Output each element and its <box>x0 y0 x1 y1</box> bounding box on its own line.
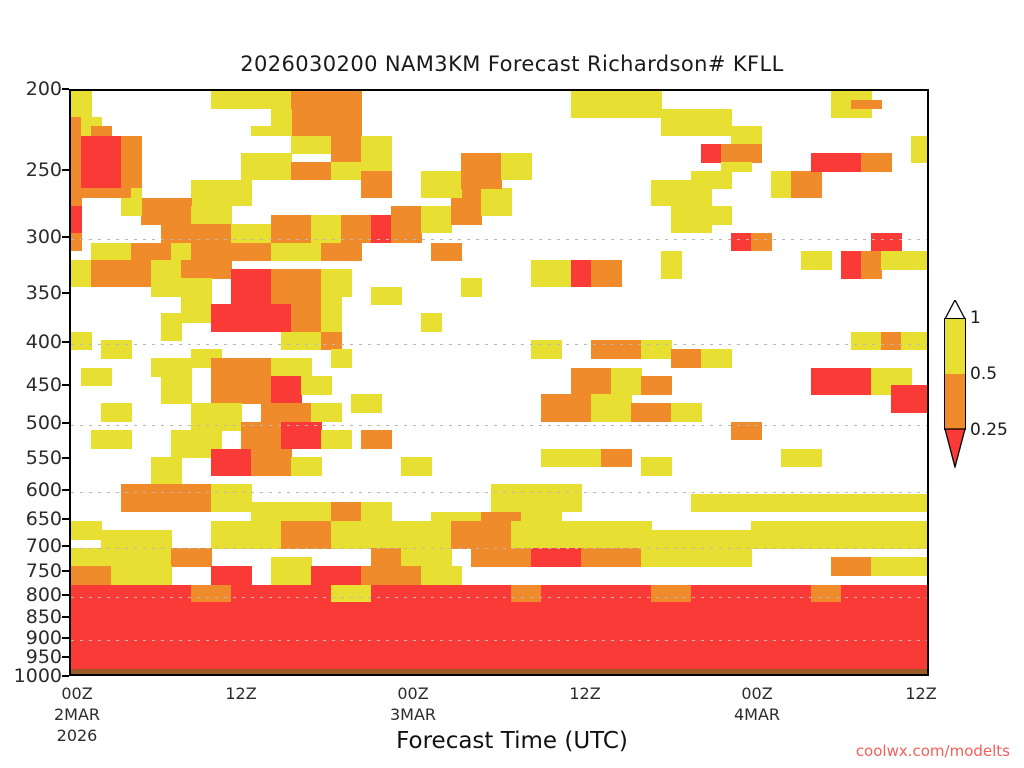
y-tick-label: 250 <box>6 159 62 181</box>
heatmap-cell <box>191 180 252 207</box>
heatmap-cell <box>541 394 592 422</box>
heatmap-cell <box>71 585 192 604</box>
heatmap-cell <box>861 494 929 513</box>
heatmap-cell <box>371 215 392 243</box>
heatmap-cell <box>291 457 322 476</box>
heatmap-cell <box>241 422 282 450</box>
heatmap-cell <box>91 260 152 287</box>
heatmap-cell <box>501 153 532 180</box>
heatmap-cell <box>861 251 882 279</box>
heatmap-cell <box>181 278 212 323</box>
heatmap-cell <box>771 171 792 198</box>
heatmap-cell <box>211 566 252 585</box>
y-tick-label: 500 <box>6 412 62 434</box>
heatmap-cell <box>231 585 332 604</box>
heatmap-cell <box>341 215 372 243</box>
colorbar-segment-high <box>945 319 965 374</box>
heatmap-cell <box>701 349 732 368</box>
heatmap-cell <box>571 91 662 118</box>
heatmap-cell <box>511 585 542 604</box>
heatmap-cell <box>281 422 322 450</box>
heatmap-cell <box>671 349 702 368</box>
heatmap-cell <box>211 376 272 404</box>
heatmap-cell <box>591 394 632 422</box>
x-tick-label: 12Z <box>569 684 600 703</box>
heatmap-cell <box>171 243 192 261</box>
heatmap-cell <box>701 144 722 163</box>
heatmap-cell <box>811 585 842 604</box>
colorbar-label: 1 <box>970 308 981 328</box>
heatmap-cell <box>601 449 632 468</box>
heatmap-cell <box>111 566 172 585</box>
heatmap-cell <box>401 457 432 476</box>
heatmap-cell <box>781 494 862 513</box>
heatmap-cell <box>901 332 929 350</box>
heatmap-cell <box>321 332 342 350</box>
heatmap-cell <box>191 403 242 430</box>
colorbar-below-arrow <box>944 428 966 468</box>
y-tick-mark <box>62 656 69 658</box>
heatmap-cell <box>641 457 672 476</box>
heatmap-cell <box>831 557 872 576</box>
heatmap-cell <box>371 287 402 305</box>
heatmap-cell <box>541 585 652 604</box>
heatmap-cell <box>71 233 82 252</box>
heatmap-cell <box>641 376 672 395</box>
heatmap-cell <box>211 484 252 512</box>
y-tick-mark <box>62 675 69 677</box>
heatmap-cell <box>161 376 192 404</box>
heatmap-cell <box>491 484 582 512</box>
heatmap-cell <box>781 449 822 468</box>
heatmap-cell <box>591 340 642 359</box>
heatmap-cell <box>671 206 712 234</box>
heatmap-cell <box>671 403 702 422</box>
y-tick-label: 800 <box>6 584 62 606</box>
heatmap-cells <box>71 91 927 674</box>
heatmap-cell <box>71 91 92 118</box>
colorbar-label: 0.5 <box>970 364 997 384</box>
heatmap-cell <box>461 153 502 189</box>
heatmap-cell <box>251 126 292 136</box>
x-tick-label: 00Z3MAR <box>390 684 436 724</box>
heatmap-cell <box>691 171 732 189</box>
y-tick-mark <box>62 341 69 343</box>
heatmap-cell <box>181 260 232 279</box>
y-tick-label: 450 <box>6 374 62 396</box>
heatmap-cell <box>351 394 382 413</box>
y-tick-mark <box>62 169 69 171</box>
heatmap-cell <box>631 403 672 422</box>
heatmap-cell <box>71 566 112 585</box>
heatmap-cell <box>571 260 592 287</box>
heatmap-cell <box>591 260 622 287</box>
heatmap-cell <box>331 162 362 180</box>
heatmap-cell <box>91 126 112 136</box>
y-tick-label: 600 <box>6 479 62 501</box>
heatmap-cell <box>811 153 862 172</box>
heatmap-cell <box>711 206 732 225</box>
heatmap-cell <box>71 136 82 189</box>
x-tick-label: 12Z <box>905 684 936 703</box>
heatmap-cell <box>851 100 882 109</box>
heatmap-cell <box>71 260 92 287</box>
chart-title: 2026030200 NAM3KM Forecast Richardson# K… <box>0 52 1024 76</box>
heatmap-cell <box>461 278 482 297</box>
heatmap-cell <box>271 557 312 585</box>
heatmap-cell <box>121 484 212 512</box>
heatmap-cell <box>101 340 132 359</box>
heatmap-cell <box>571 368 612 395</box>
heatmap-cell <box>401 548 452 567</box>
heatmap-cell <box>211 521 282 549</box>
heatmap-cell <box>641 340 672 359</box>
heatmap-cell <box>71 602 929 676</box>
heatmap-cell <box>271 215 312 243</box>
y-tick-mark <box>62 236 69 238</box>
heatmap-cell <box>691 585 812 604</box>
x-tick-label: 12Z <box>225 684 256 703</box>
heatmap-cell <box>331 349 352 368</box>
heatmap-cell <box>271 269 322 305</box>
y-tick-mark <box>62 384 69 386</box>
colorbar-above-arrow <box>944 300 966 320</box>
chart-page: 2026030200 NAM3KM Forecast Richardson# K… <box>0 0 1024 768</box>
heatmap-cell <box>121 539 172 567</box>
heatmap-cell <box>331 521 452 549</box>
heatmap-cell <box>161 313 182 340</box>
heatmap-cell <box>291 136 332 154</box>
heatmap-cell <box>211 304 292 332</box>
heatmap-cell <box>91 430 132 449</box>
heatmap-cell <box>131 243 172 261</box>
heatmap-cell <box>421 206 452 234</box>
heatmap-cell <box>721 162 752 172</box>
colorbar-arrow-up-icon <box>944 300 966 320</box>
y-tick-label: 200 <box>6 78 62 100</box>
y-tick-mark <box>62 457 69 459</box>
heatmap-cell <box>691 494 782 513</box>
heatmap-cell <box>71 117 82 136</box>
y-tick-mark <box>62 545 69 547</box>
heatmap-cell <box>791 171 822 198</box>
heatmap-cell <box>651 585 692 604</box>
heatmap-cell <box>71 548 122 567</box>
heatmap-cell <box>291 162 332 180</box>
heatmap-cell <box>421 566 462 585</box>
heatmap-cell <box>841 251 862 279</box>
heatmap-cell <box>811 368 872 395</box>
heatmap-cell <box>361 566 422 585</box>
heatmap-cell <box>331 585 372 604</box>
heatmap-cell <box>281 521 332 549</box>
y-tick-mark <box>62 616 69 618</box>
heatmap-cell <box>911 136 929 163</box>
heatmap-cell <box>541 449 602 468</box>
heatmap-cell <box>841 521 929 549</box>
heatmap-cell <box>801 251 832 270</box>
heatmap-cell <box>361 502 392 521</box>
heatmap-cell <box>891 385 929 413</box>
heatmap-cell <box>531 548 582 567</box>
heatmap-cell <box>481 188 512 216</box>
y-tick-mark <box>62 292 69 294</box>
y-tick-mark <box>62 489 69 491</box>
y-tick-label: 350 <box>6 282 62 304</box>
heatmap-cell <box>151 457 182 485</box>
y-tick-mark <box>62 570 69 572</box>
heatmap-cell <box>191 585 232 604</box>
y-tick-label: 750 <box>6 560 62 582</box>
heatmap-cell <box>261 403 312 422</box>
heatmap-cell <box>331 502 362 521</box>
heatmap-cell <box>121 198 142 216</box>
heatmap-cell <box>251 502 332 521</box>
y-tick-mark <box>62 422 69 424</box>
heatmap-cell <box>81 136 122 189</box>
terrain-band <box>71 669 927 675</box>
heatmap-cell <box>71 188 82 206</box>
heatmap-cell <box>871 557 929 576</box>
heatmap-cell <box>421 171 462 198</box>
heatmap-cell <box>101 403 132 422</box>
heatmap-cell <box>291 91 362 136</box>
heatmap-cell <box>511 521 652 549</box>
heatmap-cell <box>231 224 272 243</box>
heatmap-cell <box>121 136 142 189</box>
heatmap-cell <box>321 269 352 297</box>
heatmap-cell <box>471 548 532 567</box>
y-tick-mark <box>62 594 69 596</box>
heatmap-cell <box>211 358 272 377</box>
heatmap-cell <box>311 215 342 243</box>
heatmap-cell <box>881 251 929 270</box>
heatmap-cell <box>361 430 392 449</box>
credit-watermark: coolwx.com/modelts <box>856 742 1010 760</box>
heatmap-cell <box>211 91 292 109</box>
colorbar <box>944 318 966 430</box>
heatmap-cell <box>751 521 842 549</box>
heatmap-cell <box>321 430 352 449</box>
heatmap-cell <box>371 585 512 604</box>
y-tick-label: 400 <box>6 331 62 353</box>
heatmap-cell <box>171 548 212 567</box>
heatmap-cell <box>611 368 642 395</box>
heatmap-cell <box>321 243 362 261</box>
heatmap-cell <box>311 566 362 585</box>
heatmap-cell <box>301 376 332 395</box>
colorbar-segment-mid <box>945 374 965 429</box>
heatmap-cell <box>241 153 292 180</box>
heatmap-cell <box>141 198 192 225</box>
heatmap-cell <box>851 332 882 350</box>
heatmap-cell <box>581 548 642 567</box>
y-axis-ticks: 2002503003504004505005506006507007508008… <box>0 0 62 768</box>
heatmap-cell <box>391 206 422 243</box>
heatmap-cell <box>361 171 392 198</box>
plot-area <box>69 89 929 676</box>
y-tick-label: 850 <box>6 606 62 628</box>
heatmap-cell <box>71 332 92 350</box>
y-tick-label: 550 <box>6 447 62 469</box>
heatmap-cell <box>661 251 682 279</box>
heatmap-cell <box>291 304 322 332</box>
y-tick-mark <box>62 88 69 90</box>
heatmap-cell <box>531 260 572 287</box>
heatmap-cell <box>151 260 182 297</box>
y-tick-label: 700 <box>6 535 62 557</box>
heatmap-cell <box>451 521 512 549</box>
heatmap-cell <box>331 136 362 163</box>
x-tick-label: 00Z4MAR <box>734 684 780 724</box>
heatmap-cell <box>701 539 752 567</box>
heatmap-cell <box>81 368 112 386</box>
heatmap-cell <box>841 585 929 604</box>
heatmap-cell <box>731 422 762 441</box>
heatmap-cell <box>271 243 322 261</box>
y-tick-mark <box>62 637 69 639</box>
heatmap-cell <box>371 548 402 567</box>
colorbar-arrow-down-icon <box>944 428 966 468</box>
heatmap-cell <box>271 109 292 127</box>
heatmap-cell <box>91 243 132 261</box>
heatmap-cell <box>421 313 442 332</box>
heatmap-cell <box>721 144 762 163</box>
y-tick-label: 900 <box>6 627 62 649</box>
heatmap-cell <box>531 340 562 359</box>
heatmap-cell <box>751 233 772 252</box>
y-tick-mark <box>62 518 69 520</box>
heatmap-cell <box>191 243 272 261</box>
heatmap-cell <box>311 403 342 422</box>
heatmap-cell <box>861 153 892 172</box>
heatmap-cell <box>211 449 252 477</box>
heatmap-cell <box>731 126 762 144</box>
heatmap-cell <box>731 233 752 252</box>
heatmap-cell <box>71 521 102 540</box>
colorbar-label: 0.25 <box>970 420 1008 440</box>
y-tick-label: 300 <box>6 226 62 248</box>
heatmap-cell <box>321 296 342 332</box>
heatmap-cell <box>641 548 702 567</box>
heatmap-cell <box>71 206 82 234</box>
heatmap-cell <box>661 109 732 136</box>
heatmap-cell <box>231 269 272 305</box>
heatmap-cell <box>281 332 322 350</box>
heatmap-cell <box>151 358 192 377</box>
heatmap-cell <box>881 332 902 350</box>
heatmap-cell <box>271 376 302 404</box>
heatmap-cell <box>361 136 392 172</box>
heatmap-cell <box>431 243 462 261</box>
y-tick-label: 650 <box>6 508 62 530</box>
heatmap-cell <box>271 358 312 377</box>
heatmap-cell <box>871 233 902 252</box>
heatmap-cell <box>251 449 292 477</box>
